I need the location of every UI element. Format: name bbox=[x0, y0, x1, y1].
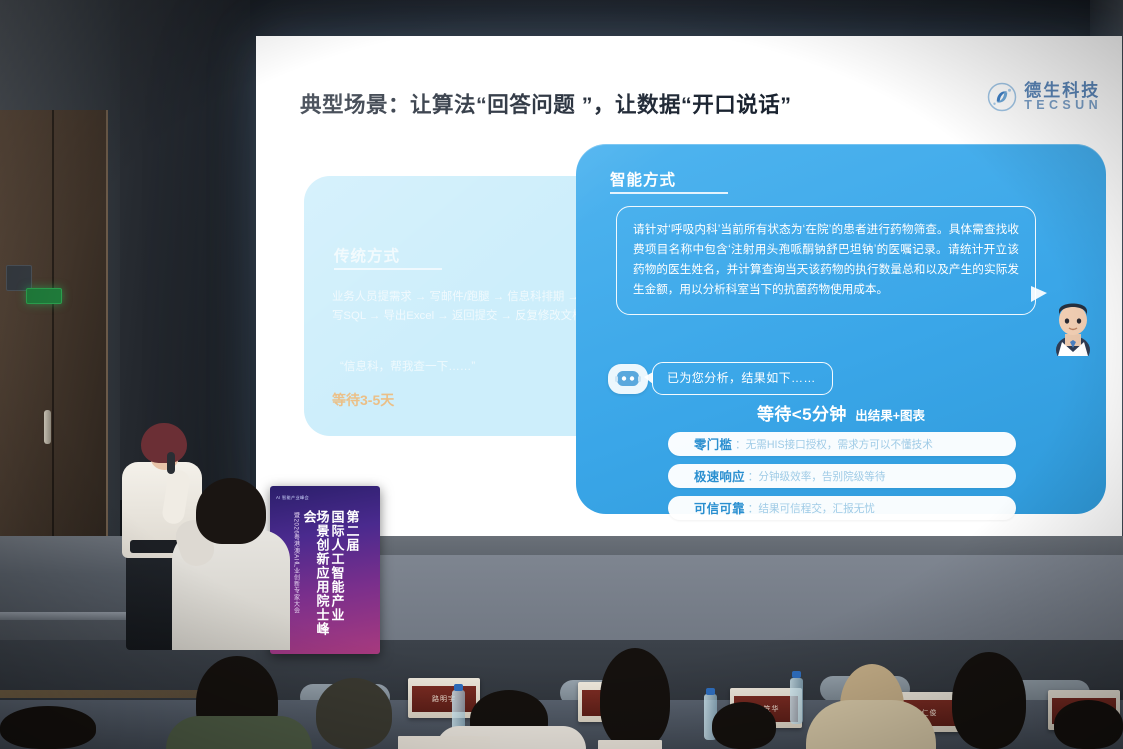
assistant-reply-row: 已为您分析，结果如下…… bbox=[608, 362, 833, 395]
benefit-desc-2: ：分钟级效率，告别院级等待 bbox=[748, 469, 886, 484]
audience-head bbox=[1054, 700, 1123, 749]
traditional-title-underline bbox=[334, 268, 442, 270]
wooden-door bbox=[0, 110, 108, 580]
question-bubble-tail bbox=[1031, 286, 1047, 302]
traditional-flow-text: 业务人员提需求 → 写邮件/跑腿 → 信息科排期 → 写SQL → 导出Exce… bbox=[332, 288, 584, 326]
audience-head bbox=[316, 678, 392, 749]
podium-subtitle: 暨2026粤港澳AI产业创新专家大会 bbox=[292, 512, 301, 614]
foreground-person-head bbox=[196, 478, 266, 544]
conference-photo: 典型场景：让算法“回答问题 ”，让数据“开口说话” 德生科技 TECSUN 传统… bbox=[0, 0, 1123, 749]
assistant-reply-bubble: 已为您分析，结果如下…… bbox=[652, 362, 833, 395]
audience-head bbox=[712, 702, 776, 749]
podium-line-2: 国际人工智能产业 bbox=[331, 510, 344, 648]
traditional-wait-time: 等待3-5天 bbox=[332, 390, 394, 410]
benefit-desc-3: ：结果可信程交，汇报无忧 bbox=[748, 501, 875, 516]
benefit-desc-1: ：无需HIS接口授权，需求方可以不懂技术 bbox=[735, 437, 933, 452]
brand-name-en: TECSUN bbox=[1024, 99, 1102, 112]
presenter-microphone bbox=[167, 452, 175, 474]
brand-logo: 德生科技 TECSUN bbox=[987, 82, 1102, 112]
assistant-avatar-icon bbox=[1048, 294, 1098, 356]
paper-sheet bbox=[598, 740, 662, 749]
benefit-pill-2: 极速响应 ：分钟级效率，告别院级等待 bbox=[668, 464, 1016, 488]
namecard-face: 路明宇 bbox=[412, 686, 476, 712]
podium-top-logos: AI 智能产业峰会 bbox=[276, 492, 374, 504]
benefit-pill-1: 零门槛 ：无需HIS接口授权，需求方可以不懂技术 bbox=[668, 432, 1016, 456]
bottle-cap bbox=[454, 684, 463, 691]
bottle-cap bbox=[706, 688, 715, 695]
swirl-logo-icon bbox=[987, 82, 1017, 112]
traditional-method-card: 传统方式 业务人员提需求 → 写邮件/跑腿 → 信息科排期 → 写SQL → 导… bbox=[304, 176, 604, 436]
podium-line-3: 场景创新应用院士峰会 bbox=[303, 510, 329, 648]
smart-method-card: 智能方式 请针对‘呼吸内科’当前所有状态为‘在院’的患者进行药物筛查。具体需查找… bbox=[576, 144, 1106, 514]
benefit-label-3: 可信可靠 bbox=[694, 499, 745, 517]
question-bubble: 请针对‘呼吸内科’当前所有状态为‘在院’的患者进行药物筛查。具体需查找收费项目名… bbox=[616, 206, 1036, 315]
benefit-pill-3: 可信可靠 ：结果可信程交，汇报无忧 bbox=[668, 496, 1016, 520]
namecard: 路明宇 bbox=[408, 678, 480, 718]
smart-wait-output: 出结果+图表 bbox=[855, 409, 925, 423]
door-handle bbox=[44, 410, 51, 444]
question-text: 请针对‘呼吸内科’当前所有状态为‘在院’的患者进行药物筛查。具体需查找收费项目名… bbox=[633, 220, 1019, 300]
smart-wait-time: 等待<5分钟 bbox=[757, 405, 847, 424]
podium-logo-text: AI 智能产业峰会 bbox=[276, 495, 309, 501]
projection-screen: 典型场景：让算法“回答问题 ”，让数据“开口说话” 德生科技 TECSUN 传统… bbox=[256, 36, 1122, 536]
brand-name-cn: 德生科技 bbox=[1024, 82, 1102, 99]
benefit-label-2: 极速响应 bbox=[694, 467, 745, 485]
door-seam bbox=[52, 110, 54, 580]
smart-title: 智能方式 bbox=[610, 168, 676, 190]
assistant-reply-text: 已为您分析，结果如下…… bbox=[667, 371, 816, 385]
water-bottle bbox=[790, 678, 803, 724]
wait-time-line: 等待<5分钟 出结果+图表 bbox=[576, 400, 1106, 425]
robot-face-icon bbox=[608, 364, 648, 394]
audience-shoulders bbox=[166, 716, 312, 749]
smart-title-underline bbox=[610, 192, 728, 194]
exit-sign-icon bbox=[26, 288, 62, 304]
audience-head bbox=[600, 648, 670, 749]
traditional-title: 传统方式 bbox=[334, 244, 400, 266]
podium-line-1: 第二届 bbox=[346, 510, 359, 648]
floor-wood-strip bbox=[0, 690, 200, 698]
slide-title: 典型场景：让算法“回答问题 ”，让数据“开口说话” bbox=[300, 88, 791, 119]
presenter-hair bbox=[141, 423, 187, 463]
audience-head bbox=[0, 706, 96, 749]
bottle-cap bbox=[792, 671, 801, 678]
audience-shoulders bbox=[806, 700, 936, 749]
audience-head bbox=[952, 652, 1026, 749]
benefit-label-1: 零门槛 bbox=[694, 435, 732, 453]
traditional-quote: “信息科，帮我查一下……” bbox=[340, 358, 584, 374]
paper-sheet bbox=[398, 736, 490, 749]
